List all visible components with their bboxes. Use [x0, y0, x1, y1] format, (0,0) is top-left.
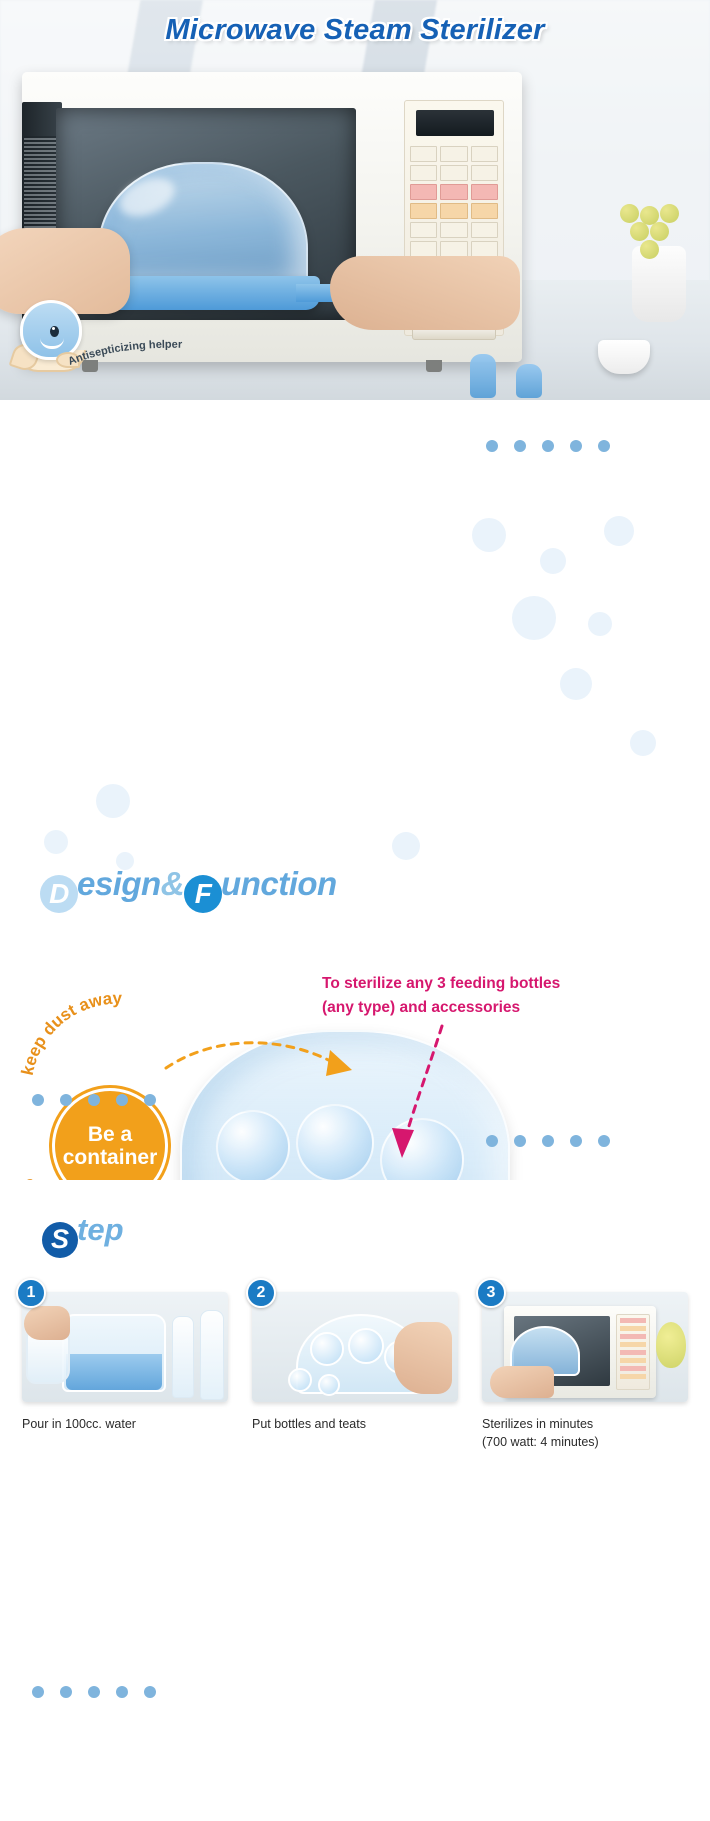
page-title: Microwave Steam Sterilizer: [0, 14, 710, 47]
hand-right: [330, 256, 520, 330]
bottle-2: [296, 1104, 374, 1182]
step-caption-3: Sterilizes in minutes (700 watt: 4 minut…: [482, 1415, 688, 1451]
step-image-3: [482, 1292, 688, 1402]
dot-separator-top: [486, 440, 610, 452]
step-image-1: [22, 1292, 228, 1402]
svg-text:keep dust away: keep dust away: [18, 989, 123, 1077]
step-image-2: [252, 1292, 458, 1402]
step-caption-1: Pour in 100cc. water: [22, 1415, 228, 1433]
pink-callout: To sterilize any 3 feeding bottles (any …: [322, 972, 612, 1020]
pink-callout-line1: To sterilize any 3 feeding bottles: [322, 972, 612, 996]
grapes: [614, 204, 688, 274]
step-heading: Step: [42, 1212, 124, 1258]
svg-text:Antisepticizing helper: Antisepticizing helper: [66, 339, 183, 368]
oven-foot-right: [426, 360, 442, 372]
heading-circle-s: S: [42, 1222, 78, 1258]
step-item-1: 1 Pour in 100cc. water: [22, 1292, 228, 1451]
step-item-3: 3 Sterilizes in minutes (700 watt: 4 min…: [482, 1292, 688, 1451]
design-function-heading: Design&Function: [40, 865, 337, 913]
pink-callout-line2: (any type) and accessories: [322, 996, 612, 1020]
step-item-2: 2 Put bottles and teats: [252, 1292, 458, 1451]
hero-banner: Microwave Steam Sterilizer Antisepticizi…: [0, 0, 710, 400]
heading-text-function: unction: [221, 865, 337, 902]
heading-ampersand: &: [161, 865, 184, 902]
keypad: [410, 146, 498, 266]
heading-text-design: esign: [77, 865, 161, 902]
mascot-tagline: Antisepticizing helper: [66, 342, 241, 372]
orange-badge-line2: container: [63, 1146, 158, 1169]
orange-badge-line1: Be a: [88, 1123, 132, 1146]
step-number-3: 3: [476, 1278, 506, 1308]
heading-circle-d: D: [40, 875, 78, 913]
bottle-1: [216, 1110, 290, 1184]
mini-bottle-2: [516, 364, 542, 398]
display-screen: [416, 110, 494, 136]
dot-separator-left: [32, 1094, 156, 1106]
design-function-section: Design&Function keep dust away Be a cont…: [0, 400, 710, 1180]
step-caption-2: Put bottles and teats: [252, 1415, 458, 1433]
heading-circle-f: F: [184, 875, 222, 913]
mascot-tagline-text: Antisepticizing helper: [66, 339, 183, 368]
step-list: 1 Pour in 100cc. water 2 Put bottles and…: [22, 1292, 688, 1451]
dot-separator-mid: [486, 1135, 610, 1147]
step-number-1: 1: [16, 1278, 46, 1308]
dot-separator-bottom: [32, 1686, 156, 1698]
step-section: Step 1 Pour in 100cc. water 2 Put: [0, 1180, 710, 1820]
step-number-2: 2: [246, 1278, 276, 1308]
heading-text-step: tep: [77, 1212, 124, 1247]
mini-bottle-1: [470, 354, 496, 398]
